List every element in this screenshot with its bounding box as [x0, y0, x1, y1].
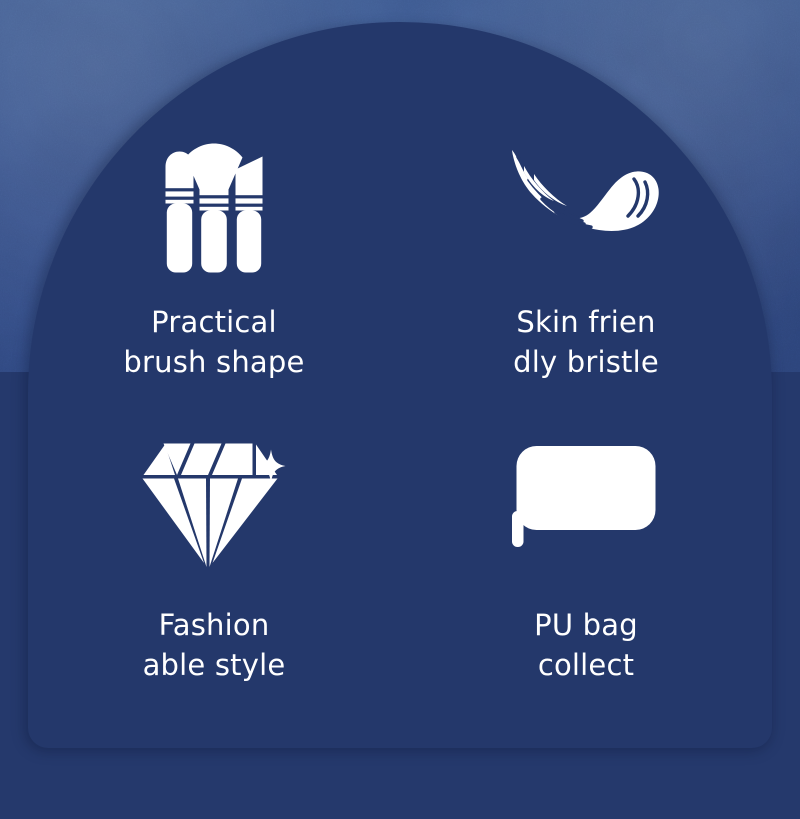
product-feature-banner: Practical brush shape: [0, 0, 800, 819]
diamond-icon: [134, 429, 294, 579]
feature-label: Skin frien dly bristle: [513, 302, 659, 382]
pu-bag-icon: [501, 429, 671, 579]
feature-label: Fashion able style: [143, 605, 286, 685]
feature-item-fashionable-style[interactable]: Fashion able style: [28, 385, 400, 748]
feature-label: PU bag collect: [534, 605, 638, 685]
makeup-brushes-icon: [139, 130, 289, 280]
feather-icon: [498, 130, 674, 280]
feature-item-skin-friendly-bristle[interactable]: Skin frien dly bristle: [400, 22, 772, 385]
feature-label: Practical brush shape: [123, 302, 304, 382]
feature-item-pu-bag-collect[interactable]: PU bag collect: [400, 385, 772, 748]
feature-grid: Practical brush shape: [28, 22, 772, 748]
feature-item-practical-brush-shape[interactable]: Practical brush shape: [28, 22, 400, 385]
